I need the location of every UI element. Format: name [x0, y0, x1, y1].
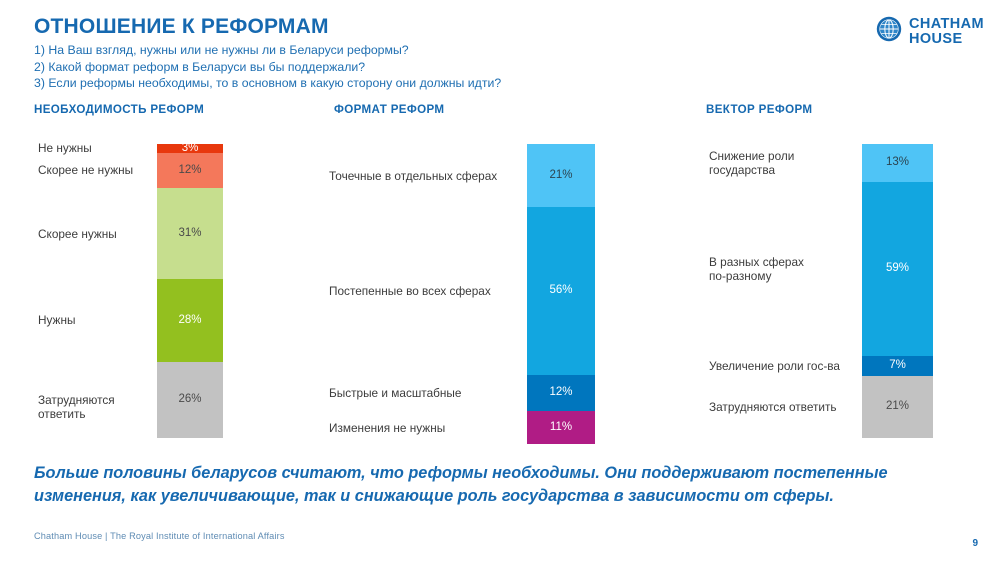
bar-segment: 12% [157, 153, 223, 188]
bar-category-label: Быстрые и масштабные [329, 386, 519, 400]
chart-2-title: ФОРМАТ РЕФОРМ [334, 103, 604, 116]
bar-segment-value: 13% [886, 157, 909, 169]
bar-segment: 21% [527, 144, 595, 207]
bar-segment-value: 31% [178, 228, 201, 240]
footer-credit: Chatham House | The Royal Institute of I… [34, 531, 285, 541]
bar-segment: 11% [527, 411, 595, 444]
stacked-bar: 3%12%31%28%26% [157, 144, 223, 438]
chart-format-of-reforms: ФОРМАТ РЕФОРМ Точечные в отдельных сфера… [334, 103, 604, 454]
bar-category-label: В разных сферах по-разному [709, 255, 854, 283]
bar-segment-value: 12% [178, 165, 201, 177]
logo-line-2: HOUSE [909, 32, 984, 47]
bar-segment: 28% [157, 279, 223, 361]
bar-segment: 7% [862, 356, 933, 377]
question-line-3: 3) Если реформы необходимы, то в основно… [34, 75, 654, 92]
bar-segment: 31% [157, 188, 223, 279]
chatham-house-logo: CHATHAM HOUSE [876, 16, 984, 47]
chart-3-plot-area: Снижение роли государстваВ разных сферах… [706, 144, 946, 444]
chart-1-title: НЕОБХОДИМОСТЬ РЕФОРМ [34, 103, 294, 116]
bar-segment: 56% [527, 207, 595, 375]
bar-category-label: Нужны [38, 313, 153, 327]
bar-segment: 12% [527, 375, 595, 411]
bar-category-label: Затрудняются ответить [709, 400, 854, 414]
bar-category-label: Точечные в отдельных сферах [329, 169, 519, 183]
logo-wordmark: CHATHAM HOUSE [909, 17, 984, 46]
logo-line-1: CHATHAM [909, 17, 984, 32]
bar-segment-value: 7% [889, 360, 906, 372]
question-line-1: 1) На Ваш взгляд, нужны или не нужны ли … [34, 42, 654, 59]
bar-segment: 59% [862, 182, 933, 355]
page-number: 9 [972, 538, 978, 549]
bar-segment: 13% [862, 144, 933, 182]
bar-segment: 26% [157, 362, 223, 438]
bar-category-label: Изменения не нужны [329, 421, 519, 435]
bar-segment-value: 56% [549, 285, 572, 297]
bar-segment: 21% [862, 376, 933, 438]
chart-vector-of-reforms: ВЕКТОР РЕФОРМ Снижение роли государстваВ… [706, 103, 946, 444]
bar-category-label: Увеличение роли гос-ва [709, 359, 854, 373]
bar-segment-value: 26% [178, 394, 201, 406]
bar-category-label: Затрудняются ответить [38, 393, 153, 421]
chart-1-plot-area: Не нужныСкорее не нужныСкорее нужныНужны… [34, 144, 294, 444]
globe-icon [876, 16, 902, 47]
bar-segment-value: 28% [178, 315, 201, 327]
bar-segment: 3% [157, 144, 223, 153]
bar-category-label: Скорее нужны [38, 227, 153, 241]
chart-3-title: ВЕКТОР РЕФОРМ [706, 103, 946, 116]
bar-category-label: Не нужны [38, 141, 153, 155]
page-title: ОТНОШЕНИЕ К РЕФОРМАМ [34, 15, 329, 39]
question-list: 1) На Ваш взгляд, нужны или не нужны ли … [34, 42, 654, 92]
bar-segment-value: 21% [886, 401, 909, 413]
bar-category-label: Скорее не нужны [38, 163, 153, 177]
chart-2-plot-area: Точечные в отдельных сферахПостепенные в… [334, 144, 604, 454]
bar-category-label: Постепенные во всех сферах [329, 284, 519, 298]
stacked-bar: 13%59%7%21% [862, 144, 933, 438]
stacked-bar: 21%56%12%11% [527, 144, 595, 444]
bar-segment-value: 11% [550, 422, 572, 434]
bar-segment-value: 21% [549, 170, 572, 182]
bar-segment-value: 59% [886, 263, 909, 275]
conclusion-text: Больше половины беларусов считают, что р… [34, 462, 934, 507]
bar-category-label: Снижение роли государства [709, 149, 854, 177]
bar-segment-value: 12% [549, 387, 572, 399]
question-line-2: 2) Какой формат реформ в Беларуси вы бы … [34, 59, 654, 76]
chart-necessity-of-reforms: НЕОБХОДИМОСТЬ РЕФОРМ Не нужныСкорее не н… [34, 103, 294, 444]
